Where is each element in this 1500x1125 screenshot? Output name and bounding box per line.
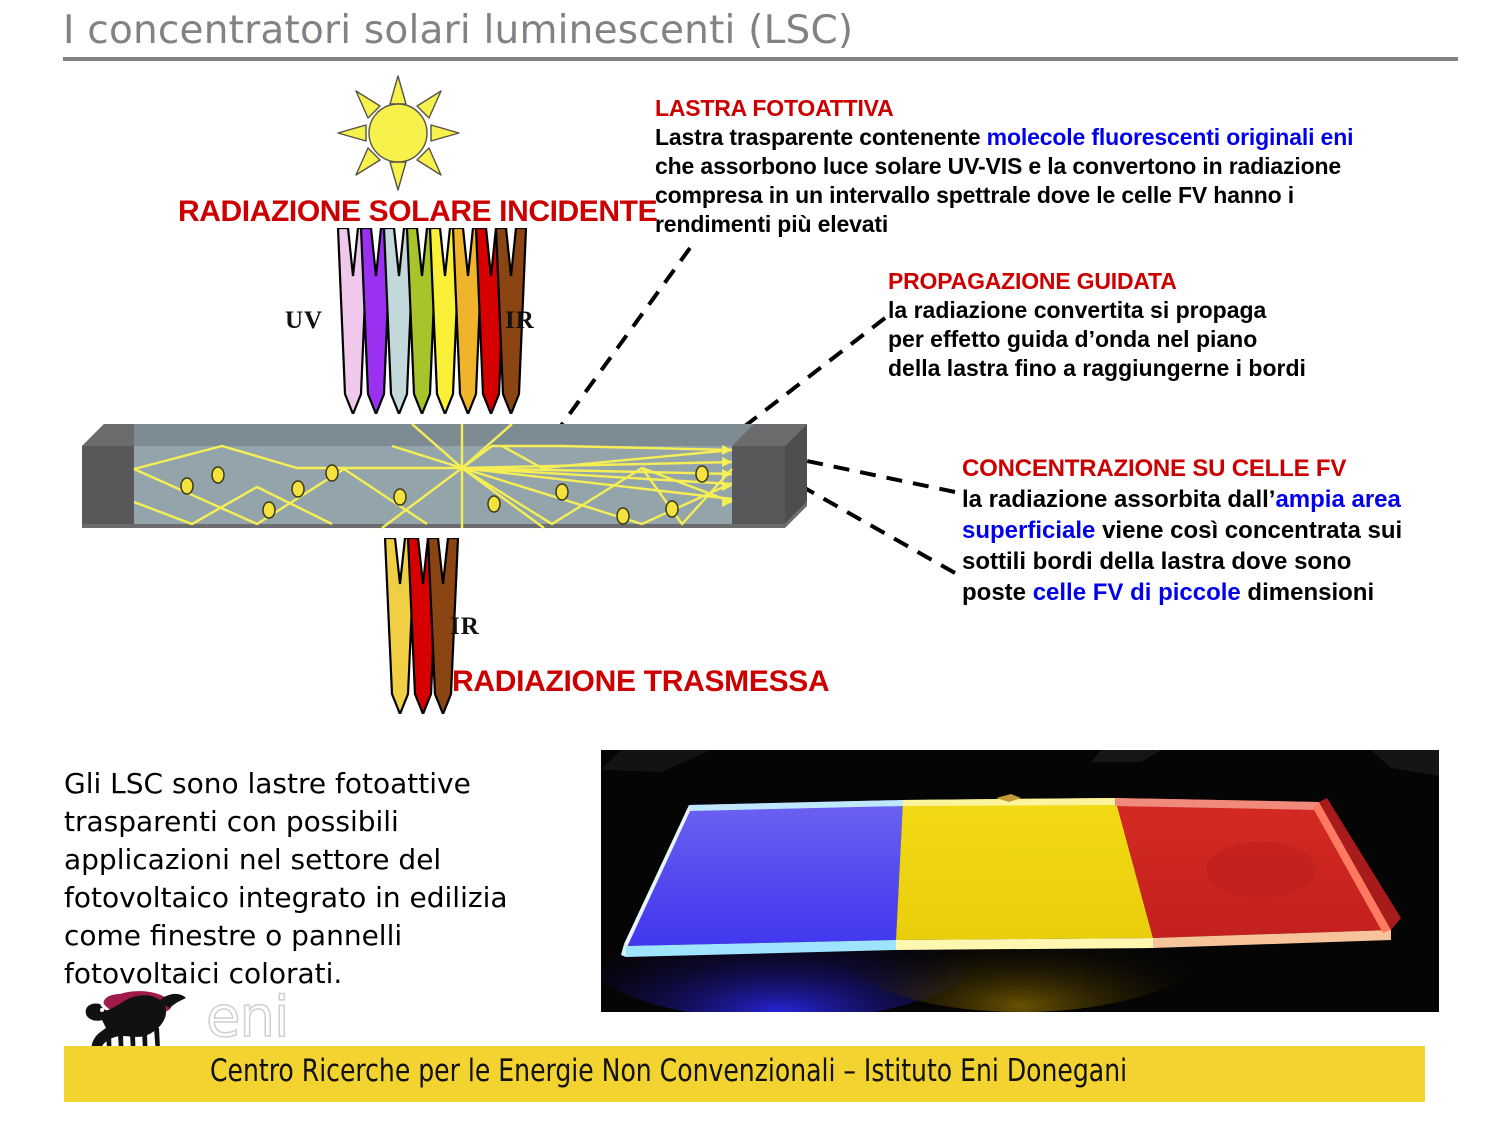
line: superficiale viene così concentrata sui — [962, 517, 1402, 544]
yellow-plate — [896, 794, 1153, 950]
line: che assorbono luce solare UV-VIS e la co… — [655, 153, 1341, 179]
callout-heading: CONCENTRAZIONE SU CELLE FV — [962, 455, 1462, 483]
title-divider — [63, 57, 1458, 61]
ir-label-top: IR — [505, 307, 535, 335]
slab-left-cap-bevel — [82, 424, 134, 446]
incident-radiation-label: RADIAZIONE SOLARE INCIDENTE — [178, 195, 657, 229]
slab-top-face — [82, 424, 807, 446]
callout-heading: LASTRA FOTOATTIVA — [655, 95, 1445, 122]
callout-body: la radiazione assorbita dall’ampia area … — [962, 484, 1462, 608]
page-title: I concentratori solari luminescenti (LSC… — [63, 8, 1363, 53]
line: compresa in un intervallo spettrale dove… — [655, 182, 1294, 208]
callout-concentrazione-celle-fv: CONCENTRAZIONE SU CELLE FV la radiazione… — [962, 455, 1462, 608]
footer-text: Centro Ricerche per le Energie Non Conve… — [210, 1053, 1290, 1089]
callout-propagazione-guidata: PROPAGAZIONE GUIDATA la radiazione conve… — [888, 268, 1448, 383]
line: Lastra trasparente contenente molecole f… — [655, 124, 1353, 150]
callout-body: la radiazione convertita si propaga per … — [888, 296, 1448, 383]
ir-label-bottom: IR — [450, 613, 480, 641]
line: la radiazione assorbita dall’ampia area — [962, 486, 1401, 513]
callout-body: Lastra trasparente contenente molecole f… — [655, 123, 1445, 239]
dog-eye — [100, 1008, 104, 1012]
transmitted-radiation-label: RADIAZIONE TRASMESSA — [452, 665, 829, 699]
leader-concentrazione-bottom — [787, 478, 955, 573]
line: della lastra fino a raggiungerne i bordi — [888, 355, 1306, 381]
lsc-slab-diagram — [82, 424, 807, 548]
slab-left-cap — [82, 446, 134, 524]
slab-right-cap — [732, 446, 785, 524]
line: per effetto guida d’onda nel piano — [888, 326, 1257, 352]
sun-svg — [336, 74, 461, 192]
uv-label: UV — [285, 307, 323, 335]
photo-svg — [601, 750, 1439, 1012]
slab-svg — [82, 424, 807, 548]
callout-lastra-fotoattiva: LASTRA FOTOATTIVA Lastra trasparente con… — [655, 95, 1445, 239]
incident-arrows-svg — [336, 228, 528, 414]
description-paragraph: Gli LSC sono lastre fotoattive trasparen… — [64, 765, 564, 993]
sun-icon — [336, 74, 461, 192]
luminescent-plates-photo — [601, 750, 1439, 1012]
line: poste celle FV di piccole dimensioni — [962, 579, 1374, 606]
eni-wordmark: eni — [206, 988, 289, 1048]
line: sottili bordi della lastra dove sono — [962, 548, 1351, 575]
incident-arrow-group — [336, 228, 528, 418]
line: rendimenti più elevati — [655, 211, 888, 237]
callout-heading: PROPAGAZIONE GUIDATA — [888, 268, 1448, 295]
line: la radiazione convertita si propaga — [888, 297, 1266, 323]
